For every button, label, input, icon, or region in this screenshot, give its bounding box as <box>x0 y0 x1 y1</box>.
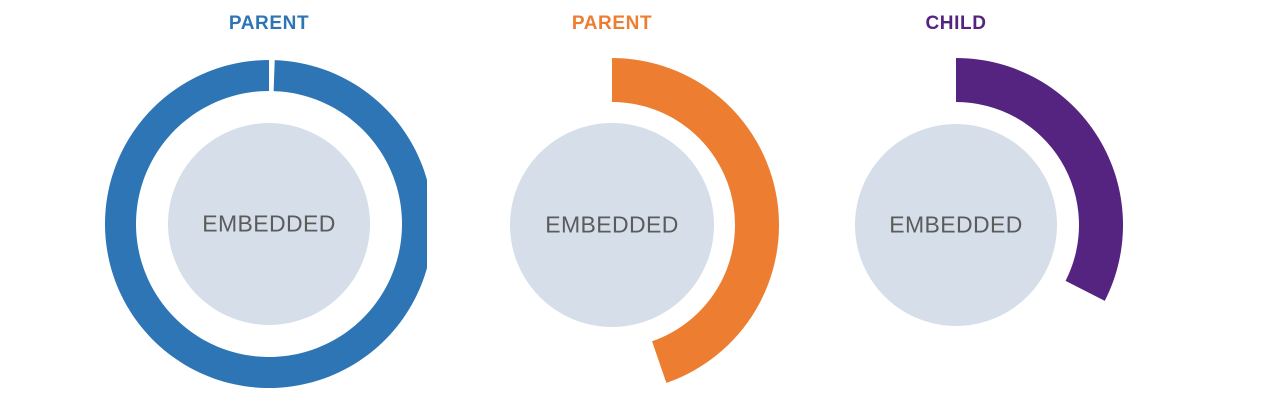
donut-panel-parent-orange: PARENTEMBEDDED <box>427 0 854 400</box>
donut-panel-child-purple: CHILDEMBEDDED <box>854 0 1280 400</box>
donut-chart-parent-orange <box>427 0 854 400</box>
donut-core-parent-orange[interactable] <box>510 123 714 327</box>
donut-chart-child-purple <box>854 0 1280 400</box>
donut-core-child-purple[interactable] <box>855 124 1057 326</box>
donut-chart-parent-blue <box>0 0 427 400</box>
donut-core-parent-blue[interactable] <box>168 123 370 325</box>
donut-diagram-canvas: PARENTEMBEDDEDPARENTEMBEDDEDCHILDEMBEDDE… <box>0 0 1280 400</box>
donut-panel-parent-blue: PARENTEMBEDDED <box>0 0 427 400</box>
